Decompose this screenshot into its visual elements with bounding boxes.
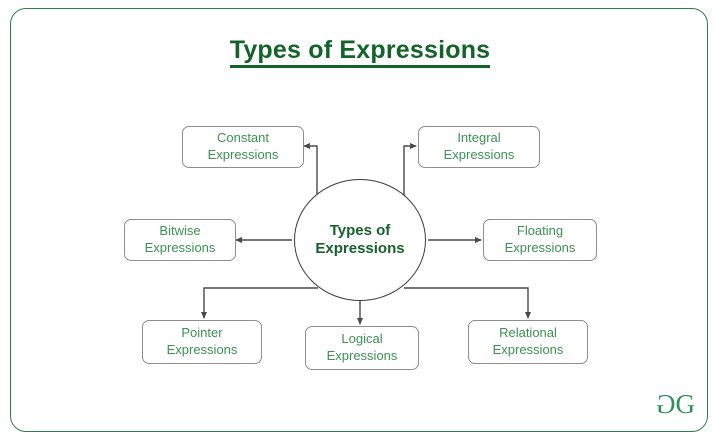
node-logical-expressions-label: Logical Expressions bbox=[327, 331, 398, 364]
node-integral-expressions[interactable]: Integral Expressions bbox=[418, 126, 540, 168]
connector-to-pointer bbox=[204, 288, 318, 318]
connector-to-relational bbox=[404, 288, 528, 318]
node-relational-expressions[interactable]: Relational Expressions bbox=[468, 320, 588, 364]
node-label-line2: Expressions bbox=[493, 342, 564, 359]
node-label-line2: Expressions bbox=[327, 348, 398, 365]
center-node-types-of-expressions[interactable]: Types of Expressions bbox=[294, 179, 426, 301]
node-bitwise-expressions-label: Bitwise Expressions bbox=[145, 223, 216, 256]
node-bitwise-expressions[interactable]: Bitwise Expressions bbox=[124, 219, 236, 261]
node-label-line2: Expressions bbox=[208, 147, 279, 164]
geeksforgeeks-logo-part2: G bbox=[676, 389, 695, 419]
node-label-line1: Pointer bbox=[167, 325, 238, 342]
node-label-line1: Constant bbox=[208, 130, 279, 147]
node-label-line2: Expressions bbox=[167, 342, 238, 359]
geeksforgeeks-logo-part1: G bbox=[657, 389, 676, 420]
node-constant-expressions-label: Constant Expressions bbox=[208, 130, 279, 163]
node-floating-expressions-label: Floating Expressions bbox=[505, 223, 576, 256]
node-label-line1: Integral bbox=[444, 130, 515, 147]
geeksforgeeks-logo: GG bbox=[657, 389, 694, 420]
node-label-line1: Relational bbox=[493, 325, 564, 342]
node-floating-expressions[interactable]: Floating Expressions bbox=[483, 219, 597, 261]
center-node-label: Types of Expressions bbox=[315, 222, 404, 259]
node-constant-expressions[interactable]: Constant Expressions bbox=[182, 126, 304, 168]
node-label-line1: Floating bbox=[505, 223, 576, 240]
node-relational-expressions-label: Relational Expressions bbox=[493, 325, 564, 358]
center-node-label-line1: Types of bbox=[315, 222, 404, 240]
node-label-line2: Expressions bbox=[505, 240, 576, 257]
node-label-line1: Bitwise bbox=[145, 223, 216, 240]
node-logical-expressions[interactable]: Logical Expressions bbox=[305, 326, 419, 370]
center-node-label-line2: Expressions bbox=[315, 240, 404, 258]
node-pointer-expressions-label: Pointer Expressions bbox=[167, 325, 238, 358]
node-integral-expressions-label: Integral Expressions bbox=[444, 130, 515, 163]
node-label-line2: Expressions bbox=[444, 147, 515, 164]
node-label-line1: Logical bbox=[327, 331, 398, 348]
node-pointer-expressions[interactable]: Pointer Expressions bbox=[142, 320, 262, 364]
node-label-line2: Expressions bbox=[145, 240, 216, 257]
diagram-canvas: Types of Expressions Types of bbox=[0, 0, 720, 442]
